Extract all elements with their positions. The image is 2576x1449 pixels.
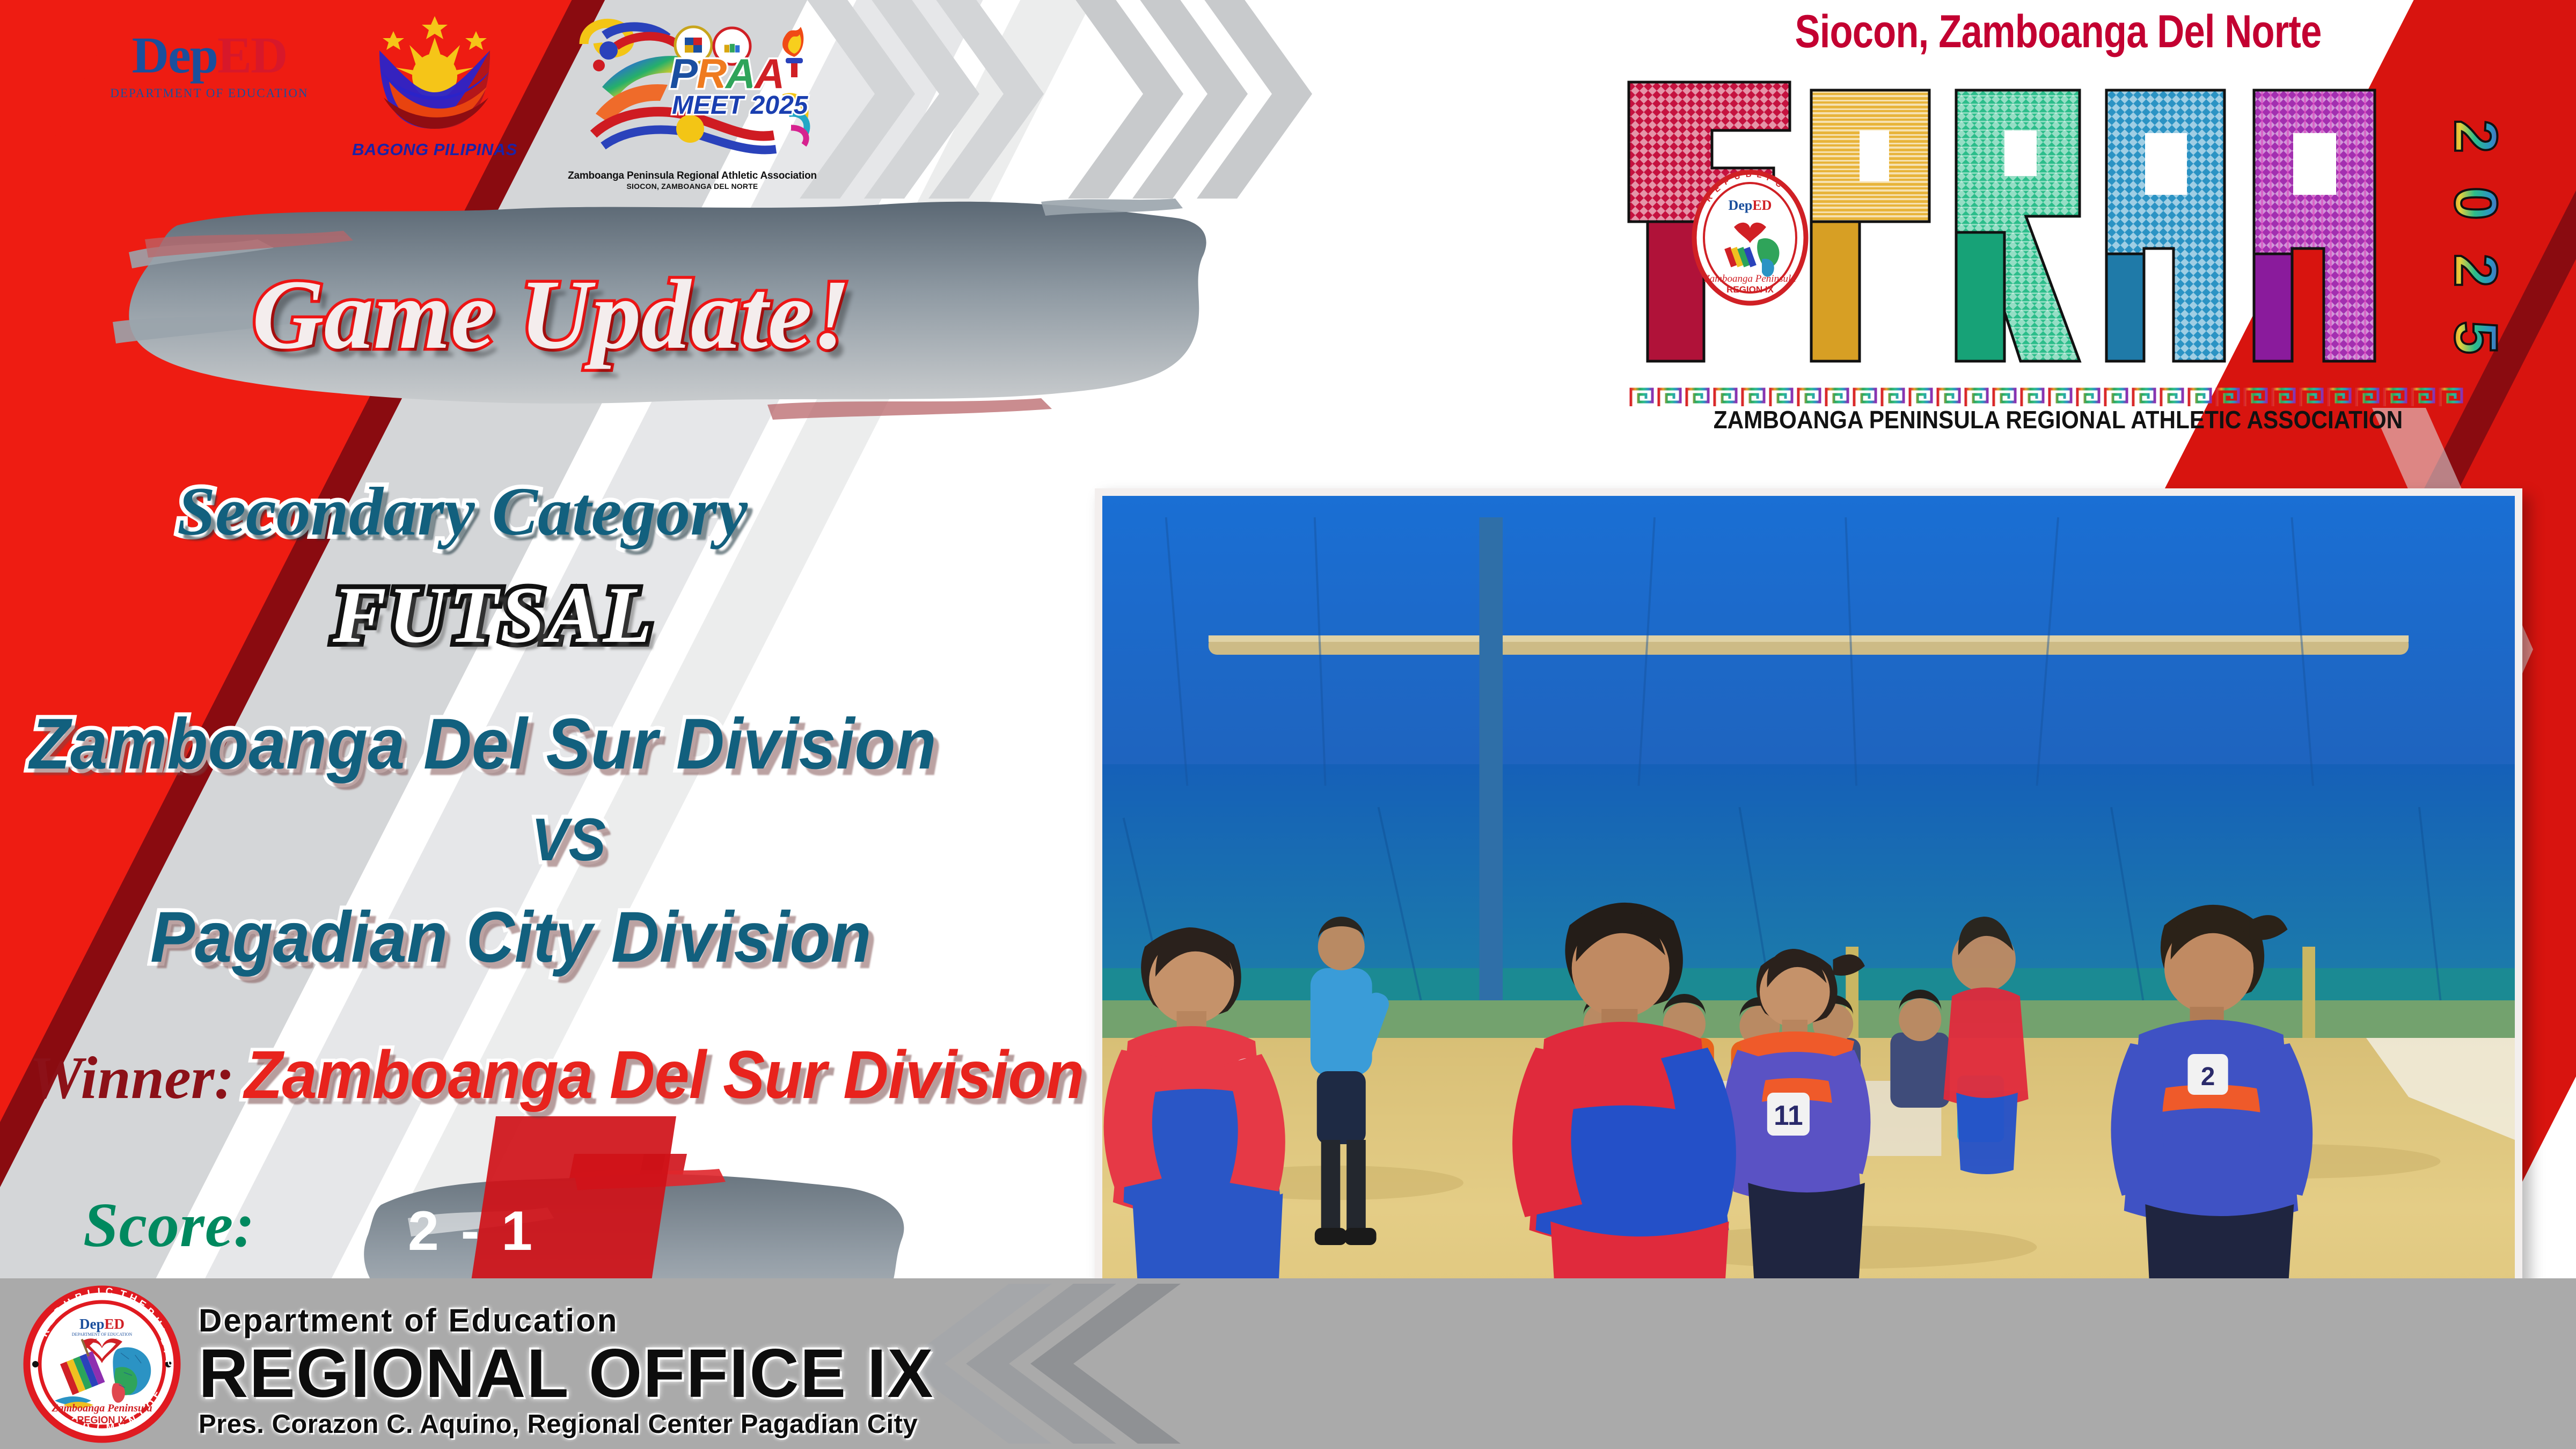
praa-meet-icon: P R A A MEET 2025 [553,6,832,167]
game-update-title: Game Update! [252,258,851,372]
score-label: Score: [83,1189,255,1262]
bagong-pilipinas-label: BAGONG PILIPINAS [346,140,523,159]
deped-logo: DepED DEPARTMENT OF EDUCATION [107,30,311,100]
bagong-pilipinas-logo: BAGONG PILIPINAS [346,12,523,159]
deped-word-dep: Dep [132,26,217,84]
zpraa-wordmark-svg: 2 0 2 5 DepED [1597,61,2520,404]
winner-row: Winner:Zamboanga Del Sur Division [30,1036,1147,1114]
winner-label: Winner: [30,1045,235,1111]
versus-text: VS [531,805,606,874]
seal-region-script: Zamboanga Peninsula [51,1402,152,1414]
svg-text:R: R [697,50,727,97]
svg-text:DepED: DepED [79,1316,125,1332]
praa-meet-logo: P R A A MEET 2025 Zamboanga Peninsula Re… [553,6,832,191]
deped-subtitle: DEPARTMENT OF EDUCATION [107,86,311,100]
svg-text:DepED: DepED [1729,197,1772,213]
footer-text-block: Department of Education REGIONAL OFFICE … [199,1302,934,1439]
seal-region-label: REGION IX [77,1415,127,1425]
svg-text:A: A [724,50,756,97]
svg-text:P: P [163,1359,174,1367]
svg-text:2: 2 [2201,1063,2215,1091]
poster-canvas: DepED DEPARTMENT OF EDUCATION [0,0,2576,1449]
zpraa-location-text: Siocon, Zamboanga Del Norte [1680,5,2436,58]
zpraa-logo: Siocon, Zamboanga Del Norte [1597,5,2520,434]
match-photo: 11 [1102,496,2515,1415]
category-text: Secondary Category [177,472,748,551]
team-a-name: Zamboanga Del Sur Division [30,703,936,785]
svg-text:DEPARTMENT OF EDUCATION: DEPARTMENT OF EDUCATION [72,1332,133,1337]
sport-text: FUTSAL [333,569,654,661]
praa-association-line: Zamboanga Peninsula Regional Athletic As… [553,170,832,182]
zpraa-wordmark: 2 0 2 5 DepED [1597,61,2520,404]
footer-address: Pres. Corazon C. Aquino, Regional Center… [199,1409,934,1439]
svg-text:C: C [105,1286,113,1298]
svg-text:Zamboanga Peninsula: Zamboanga Peninsula [1704,273,1796,284]
score-value: 2 - 1 [408,1199,536,1263]
chevron-group-top-right [1068,0,1401,209]
footer-department: Department of Education [199,1302,934,1339]
svg-text:2: 2 [2442,120,2509,153]
svg-text:REGION IX: REGION IX [1726,284,1774,295]
team-b-name: Pagadian City Division [150,896,871,978]
svg-text:P: P [670,50,698,97]
game-update-banner: Game Update! [97,199,1202,424]
svg-text:MEET 2025: MEET 2025 [672,91,809,120]
chevron-group-top-left [800,0,1132,209]
footer-deped-seal: R E P U B L I C T H E P H I L I P D E P … [21,1284,182,1445]
svg-text:I: I [97,1286,100,1298]
praa-city-line: SIOCON, ZAMBOANGA DEL NORTE [553,182,832,191]
deped-wordmark: DepED [107,30,311,81]
svg-text:5: 5 [2442,321,2509,354]
svg-text:A: A [753,50,785,97]
zpraa-caption-text: ZAMBOANGA PENINSULA REGIONAL ATHLETIC AS… [1634,405,2483,434]
svg-text:2: 2 [2442,254,2509,287]
footer-office: REGIONAL OFFICE IX [199,1339,934,1409]
svg-text:0: 0 [2442,187,2509,220]
svg-text:11: 11 [1774,1100,1803,1131]
deped-word-ed: ED [217,26,287,84]
winner-name: Zamboanga Del Sur Division [244,1036,1084,1114]
svg-text:B: B [1745,170,1752,179]
bagong-pilipinas-icon [346,12,523,135]
